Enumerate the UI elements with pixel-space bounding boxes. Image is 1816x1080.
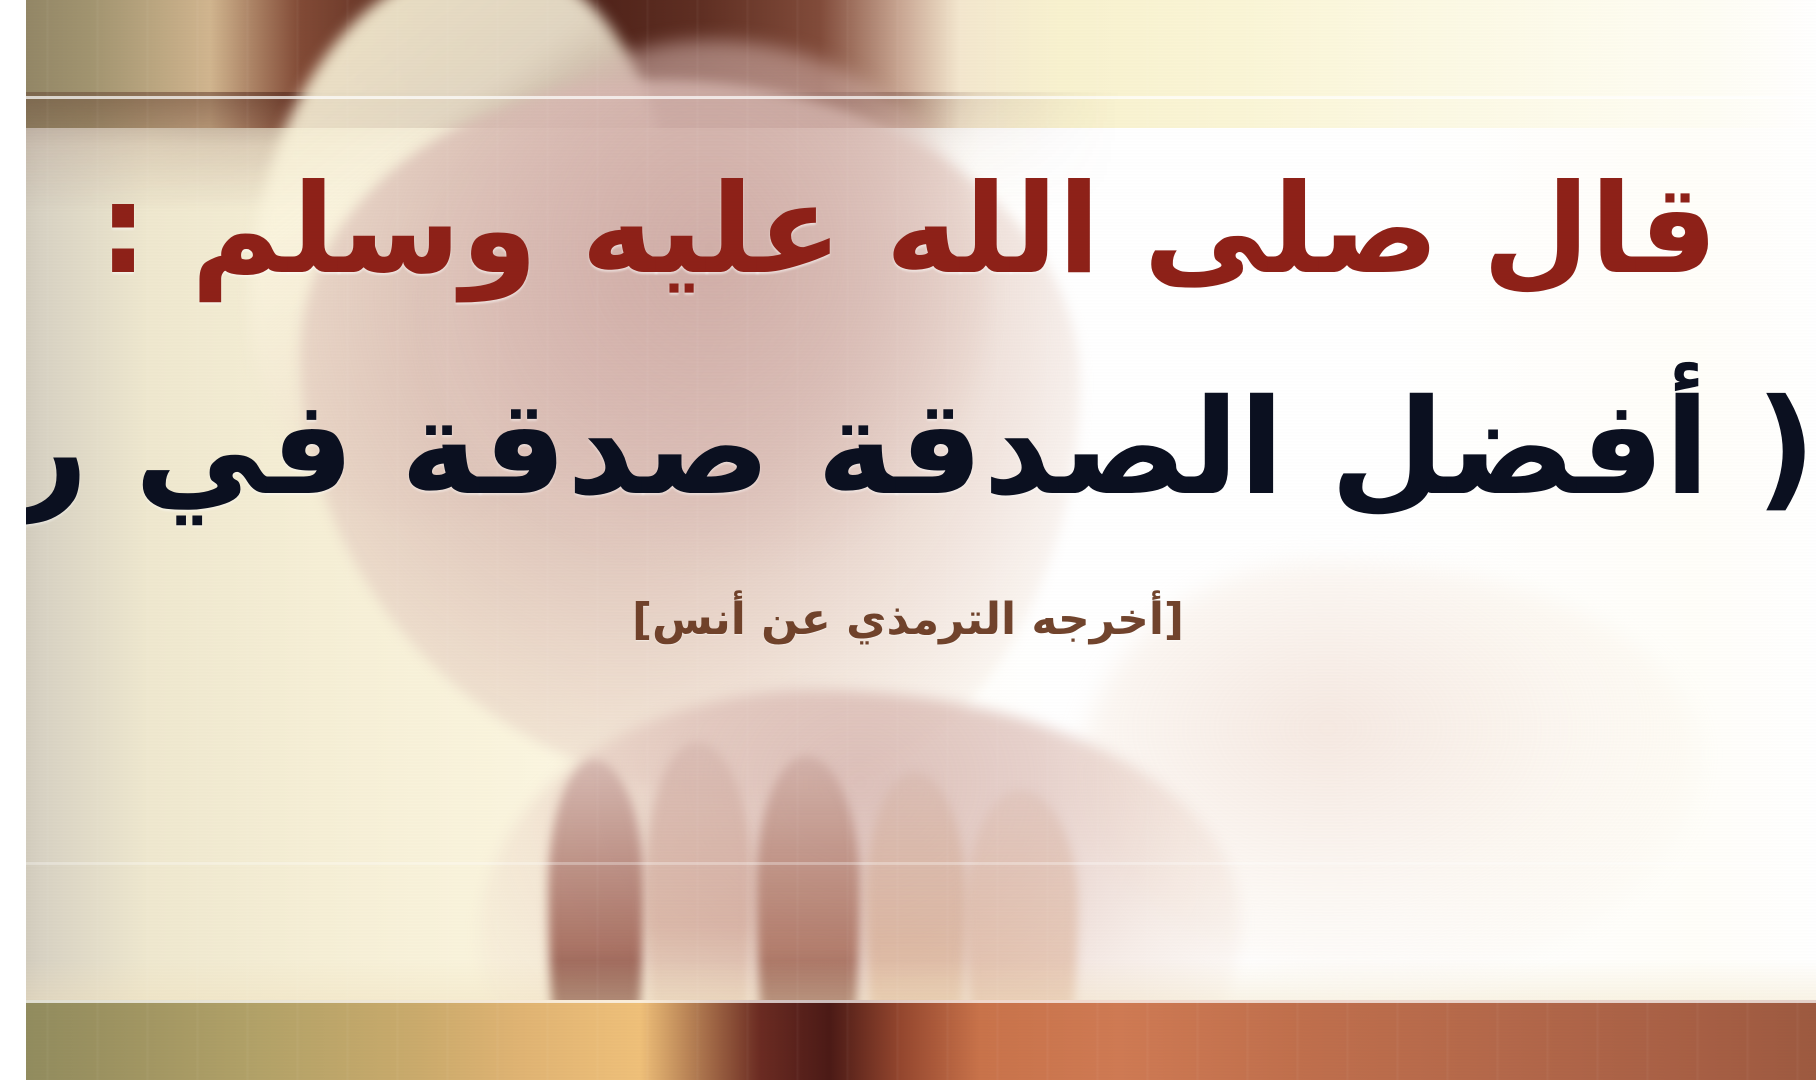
- hadith-attribution-line: [أخرجه الترمذي عن أنس]: [0, 598, 1816, 642]
- right-page-margin: [0, 0, 26, 1080]
- hadith-intro-line: قال صلى الله عليه وسلم :: [0, 168, 1816, 292]
- hadith-body-line: ( أفضل الصدقة صدقة في رمضان ): [0, 382, 1816, 514]
- hadith-poster: قال صلى الله عليه وسلم : ( أفضل الصدقة ص…: [0, 0, 1816, 1080]
